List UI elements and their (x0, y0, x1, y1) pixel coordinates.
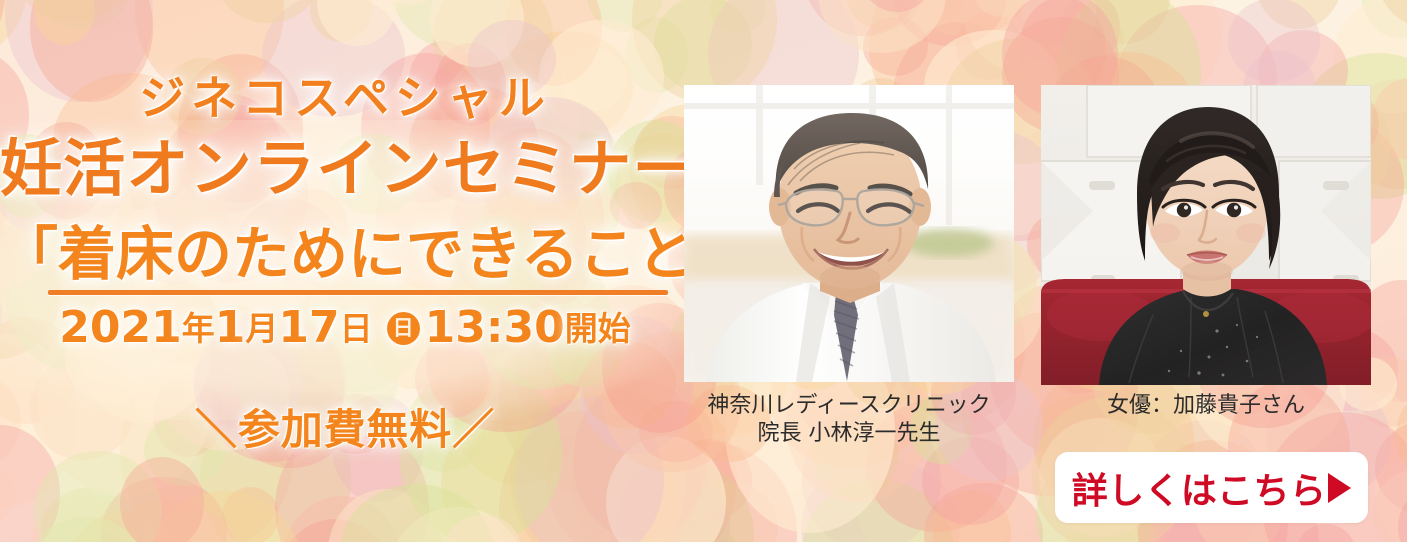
schedule-day-unit: 日 (340, 312, 373, 345)
doctor-caption-line1: 神奈川レディースクリニック (684, 392, 1014, 420)
schedule-month: 1 (215, 306, 246, 350)
doctor-caption-line2: 院長 小林淳一先生 (684, 420, 1014, 448)
doctor-photo (684, 85, 1014, 382)
schedule-time: 13:30 (425, 306, 565, 350)
weekday-badge: 日 (387, 312, 420, 345)
details-button-label-wrap: 詳しくはこちら (1072, 462, 1352, 514)
schedule-year: 2021 (59, 306, 181, 350)
schedule-line: 2021 年 1 月 17 日 日 13:30 開始 (0, 306, 690, 350)
actress-caption-line1: 女優：加藤貴子さん (1041, 392, 1371, 420)
divider (48, 290, 668, 295)
free-admission-note: ＼参加費無料／ (0, 396, 690, 457)
schedule-month-unit: 月 (245, 312, 278, 345)
schedule-time-suffix: 開始 (565, 312, 631, 345)
schedule-year-unit: 年 (182, 312, 215, 345)
page-title: 妊活オンラインセミナー (0, 118, 690, 208)
actress-portrait-illustration (1041, 85, 1371, 385)
actress-caption: 女優：加藤貴子さん (1041, 392, 1371, 420)
schedule-day: 17 (278, 306, 339, 350)
details-button[interactable]: 詳しくはこちら (1055, 452, 1368, 523)
seminar-subtitle: 「着床のためにできること」 (0, 207, 690, 291)
details-button-label: 詳しくはこちら (1072, 462, 1327, 514)
play-triangle-icon (1328, 473, 1351, 503)
doctor-portrait-illustration (684, 85, 1014, 382)
actress-photo (1041, 85, 1371, 385)
doctor-caption: 神奈川レディースクリニック 院長 小林淳一先生 (684, 392, 1014, 448)
seminar-banner: ジネコスペシャル 妊活オンラインセミナー 「着床のためにできること」 2021 … (0, 0, 1407, 542)
headline-block: ジネコスペシャル 妊活オンラインセミナー 「着床のためにできること」 2021 … (0, 0, 690, 542)
